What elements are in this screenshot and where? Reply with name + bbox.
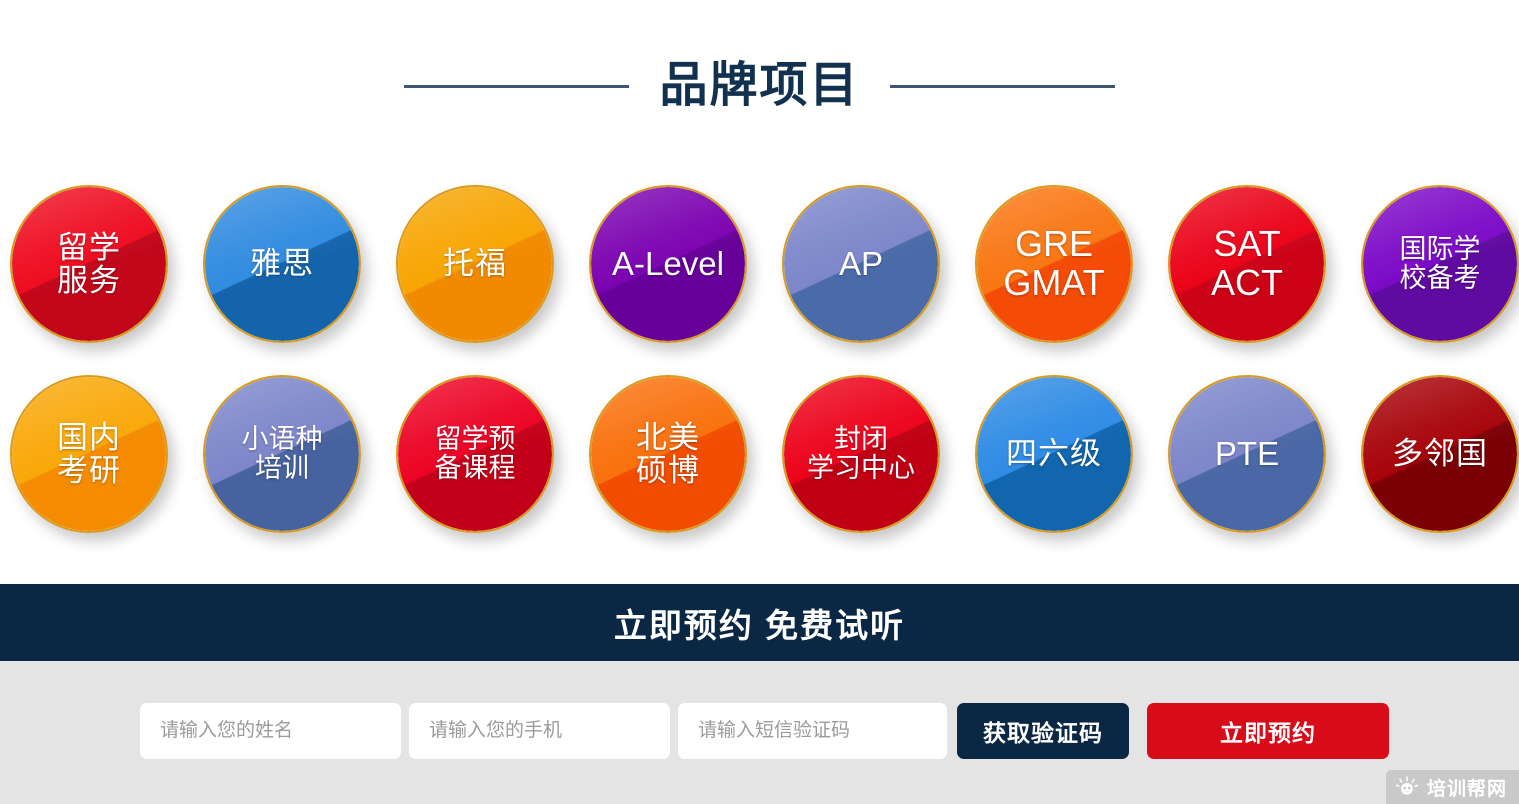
program-xiaoyuzhong-peixun[interactable]: 小语种培训 (203, 375, 361, 533)
sun-face-icon (1396, 776, 1418, 798)
program-yasi-label-line: 雅思 (250, 247, 314, 280)
program-a-level-label-line: A-Level (612, 246, 724, 281)
program-circle-grid: 留学服务雅思托福A-LevelAPGREGMATSATACT国际学校备考国内考研… (0, 0, 1519, 560)
program-ap-label-line: AP (839, 246, 883, 281)
program-liuxue-fuwu-wrapper: 留学服务 (10, 185, 168, 343)
program-sat-act[interactable]: SATACT (1168, 185, 1326, 343)
program-beimei-shuobo-wrapper: 北美硕博 (589, 375, 747, 533)
program-liuxue-yubei-kecheng-wrapper: 留学预备课程 (396, 375, 554, 533)
program-gre-gmat-label: GREGMAT (997, 225, 1110, 302)
program-pte-label-line: PTE (1215, 436, 1279, 471)
program-guoji-xuexiao-beikao-label-line: 国际学 (1400, 235, 1481, 264)
program-tuofu-wrapper: 托福 (396, 185, 554, 343)
watermark-text: 培训帮网 (1427, 774, 1507, 801)
program-guoji-xuexiao-beikao-label: 国际学校备考 (1394, 235, 1487, 293)
get-verification-code-button[interactable]: 获取验证码 (957, 703, 1129, 759)
name-input[interactable] (140, 703, 401, 759)
program-beimei-shuobo-label-line: 北美 (636, 421, 700, 454)
booking-form-strip: 获取验证码 立即预约 (0, 661, 1519, 804)
program-pte[interactable]: PTE (1168, 375, 1326, 533)
cta-title: 立即预约 免费试听 (614, 599, 905, 647)
program-duolinguo-label: 多邻国 (1386, 437, 1494, 470)
phone-input[interactable] (409, 703, 670, 759)
program-beimei-shuobo-label: 北美硕博 (630, 421, 706, 487)
booking-form-row: 获取验证码 立即预约 (140, 703, 1389, 759)
program-fengbi-xuexi-zhongxin-wrapper: 封闭学习中心 (782, 375, 940, 533)
program-duolinguo[interactable]: 多邻国 (1361, 375, 1519, 533)
program-liuxue-fuwu-label-line: 留学 (57, 231, 121, 264)
program-duolinguo-label-line: 多邻国 (1392, 437, 1488, 470)
program-liuxue-yubei-kecheng-label-line: 留学预 (435, 425, 516, 454)
program-fengbi-xuexi-zhongxin-label-line: 封闭 (807, 425, 915, 454)
program-liuxue-fuwu-label: 留学服务 (51, 231, 127, 297)
program-gre-gmat-wrapper: GREGMAT (975, 185, 1133, 343)
program-guoji-xuexiao-beikao[interactable]: 国际学校备考 (1361, 185, 1519, 343)
sms-code-input[interactable] (678, 703, 947, 759)
program-guonei-kaoyan-wrapper: 国内考研 (10, 375, 168, 533)
program-a-level-wrapper: A-Level (589, 185, 747, 343)
program-ap-label: AP (833, 246, 889, 281)
program-pte-label: PTE (1209, 436, 1285, 471)
program-ap-wrapper: AP (782, 185, 940, 343)
program-beimei-shuobo-label-line: 硕博 (636, 454, 700, 487)
program-xiaoyuzhong-peixun-label-line: 小语种 (242, 425, 323, 454)
program-guonei-kaoyan[interactable]: 国内考研 (10, 375, 168, 533)
program-tuofu-label: 托福 (437, 247, 513, 280)
program-liuxue-yubei-kecheng-label-line: 备课程 (435, 454, 516, 483)
program-sat-act-label: SATACT (1205, 225, 1289, 302)
program-guonei-kaoyan-label-line: 国内 (57, 421, 121, 454)
program-a-level[interactable]: A-Level (589, 185, 747, 343)
program-sat-act-wrapper: SATACT (1168, 185, 1326, 343)
program-beimei-shuobo[interactable]: 北美硕博 (589, 375, 747, 533)
program-si-liu-ji-label: 四六级 (1000, 437, 1108, 470)
program-duolinguo-wrapper: 多邻国 (1361, 375, 1519, 533)
program-gre-gmat-label-line: GRE (1003, 225, 1104, 264)
program-sat-act-label-line: ACT (1211, 264, 1283, 303)
program-guonei-kaoyan-label: 国内考研 (51, 421, 127, 487)
program-liuxue-yubei-kecheng-label: 留学预备课程 (429, 425, 522, 483)
cta-banner: 立即预约 免费试听 (0, 584, 1519, 661)
program-fengbi-xuexi-zhongxin-label: 封闭学习中心 (801, 425, 921, 483)
program-liuxue-fuwu-label-line: 服务 (57, 264, 121, 297)
program-a-level-label: A-Level (606, 246, 730, 281)
program-yasi-label: 雅思 (244, 247, 320, 280)
program-guonei-kaoyan-label-line: 考研 (57, 454, 121, 487)
program-tuofu-label-line: 托福 (443, 247, 507, 280)
watermark-badge: 培训帮网 (1386, 770, 1519, 804)
program-xiaoyuzhong-peixun-label-line: 培训 (242, 454, 323, 483)
program-tuofu[interactable]: 托福 (396, 185, 554, 343)
program-xiaoyuzhong-peixun-label: 小语种培训 (236, 425, 329, 483)
program-gre-gmat-label-line: GMAT (1003, 264, 1104, 303)
program-liuxue-fuwu[interactable]: 留学服务 (10, 185, 168, 343)
program-yasi-wrapper: 雅思 (203, 185, 361, 343)
program-fengbi-xuexi-zhongxin-label-line: 学习中心 (807, 454, 915, 483)
program-liuxue-yubei-kecheng[interactable]: 留学预备课程 (396, 375, 554, 533)
program-si-liu-ji-label-line: 四六级 (1006, 437, 1102, 470)
program-si-liu-ji[interactable]: 四六级 (975, 375, 1133, 533)
program-yasi[interactable]: 雅思 (203, 185, 361, 343)
program-guoji-xuexiao-beikao-label-line: 校备考 (1400, 264, 1481, 293)
program-fengbi-xuexi-zhongxin[interactable]: 封闭学习中心 (782, 375, 940, 533)
program-sat-act-label-line: SAT (1211, 225, 1283, 264)
program-gre-gmat[interactable]: GREGMAT (975, 185, 1133, 343)
submit-booking-button[interactable]: 立即预约 (1147, 703, 1389, 759)
program-si-liu-ji-wrapper: 四六级 (975, 375, 1133, 533)
program-ap[interactable]: AP (782, 185, 940, 343)
program-pte-wrapper: PTE (1168, 375, 1326, 533)
program-xiaoyuzhong-peixun-wrapper: 小语种培训 (203, 375, 361, 533)
program-guoji-xuexiao-beikao-wrapper: 国际学校备考 (1361, 185, 1519, 343)
